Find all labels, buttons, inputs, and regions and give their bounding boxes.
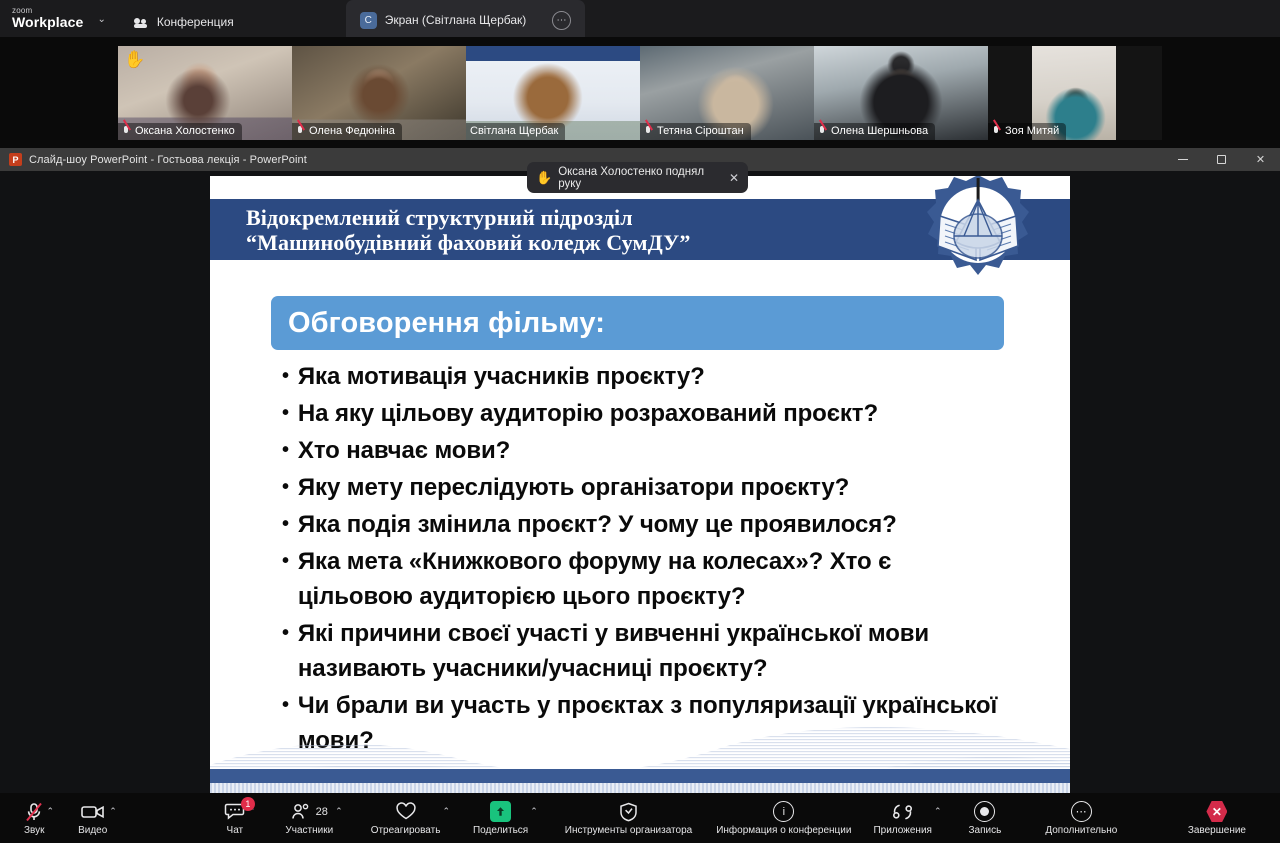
bullet-text: Яку мету переслідують організатори проєк… (298, 470, 1012, 505)
end-meeting-icon: ✕ (1206, 801, 1227, 823)
participants-chevron-up-icon[interactable]: ⌃ (333, 806, 345, 817)
slide-bullet-item: • Яка мета «Книжкового форуму на колесах… (282, 544, 1012, 614)
slide-org-title-line2: “Машинобудівний фаховий коледж СумДУ” (246, 230, 940, 255)
end-meeting-hexagon: ✕ (1206, 801, 1227, 822)
close-button[interactable]: ✕ (1241, 148, 1280, 171)
notification-text: Оксана Холостенко поднял руку (558, 166, 723, 190)
brand-chevron-down-icon[interactable]: ⌄ (93, 0, 119, 37)
share-screen-square (490, 801, 511, 822)
more-dots-icon: ⋯ (1071, 801, 1092, 823)
slide-bullet-list: • Яка мотивація учасників проєкту? • На … (282, 359, 1012, 760)
tab-conference-label: Конференция (157, 15, 234, 29)
react-chevron-up-icon[interactable]: ⌃ (440, 806, 452, 817)
bullet-text: Яка мотивація учасників проєкту? (298, 359, 1012, 394)
microphone-muted-icon (25, 801, 43, 823)
toolbar-label-chat: Чат (227, 825, 244, 836)
toolbar-label-participants: Участники (285, 825, 333, 836)
participant-tile[interactable]: Олена Федюніна (292, 46, 466, 140)
microphone-muted-icon (818, 125, 827, 137)
record-icon (974, 801, 995, 823)
info-circle: i (773, 801, 794, 822)
slide-org-title: Відокремлений структурний підрозділ “Маш… (246, 205, 940, 255)
raise-hand-notification[interactable]: ✋ Оксана Холостенко поднял руку ✕ (527, 162, 748, 193)
participants-count: 28 (316, 806, 328, 818)
microphone-muted-icon (644, 125, 653, 137)
slide-wave-band (210, 769, 1070, 783)
record-circle (974, 801, 995, 822)
participant-name-badge: Олена Федюніна (292, 123, 402, 140)
participant-name: Олена Шершньова (831, 125, 928, 137)
zoom-meeting-window: zoom Workplace ⌄ Конференция C Экран (Св… (0, 0, 1280, 843)
participant-tile[interactable]: Тетяна Сіроштан (640, 46, 814, 140)
toolbar-button-apps[interactable]: Приложения (873, 793, 932, 843)
microphone-muted-icon (122, 125, 131, 137)
participant-name: Тетяна Сіроштан (657, 125, 744, 137)
bullet-dot-icon: • (282, 507, 289, 542)
brand-workplace-text: Workplace (12, 15, 83, 30)
microphone-muted-icon (296, 125, 305, 137)
slide-bullet-item: • Яку мету переслідують організатори про… (282, 470, 1012, 505)
toolbar-label-apps: Приложения (873, 825, 932, 836)
powerpoint-window-title: Слайд-шоу PowerPoint - Гостьова лекція -… (29, 154, 307, 166)
more-circle: ⋯ (1071, 801, 1092, 822)
shared-screen-stage: Відокремлений структурний підрозділ “Маш… (0, 171, 1280, 793)
toolbar-label-react: Отреагировать (371, 825, 441, 836)
bullet-dot-icon: • (282, 470, 289, 505)
toolbar-label-record: Запись (969, 825, 1002, 836)
toolbar-button-participants[interactable]: 28 Участники (285, 793, 333, 843)
raised-hand-icon: ✋ (124, 51, 145, 68)
close-icon[interactable]: ✕ (729, 171, 739, 185)
video-chevron-up-icon[interactable]: ⌃ (107, 806, 119, 817)
participant-name-badge: Оксана Холостенко (118, 123, 242, 140)
bullet-dot-icon: • (282, 359, 289, 394)
participant-filmstrip: ✋ Оксана Холостенко Олена Федюніна Світл… (0, 37, 1280, 148)
audio-chevron-up-icon[interactable]: ⌃ (45, 806, 57, 817)
tab-more-options-icon[interactable]: ⋯ (552, 11, 571, 30)
slide-bullet-item: • На яку цільову аудиторію розрахований … (282, 396, 1012, 431)
bullet-dot-icon: • (282, 396, 289, 431)
toolbar-button-audio[interactable]: Звук (24, 793, 45, 843)
tab-screen-share[interactable]: C Экран (Світлана Щербак) ⋯ (346, 0, 586, 37)
participant-tile[interactable]: Зоя Митяй (988, 46, 1162, 140)
minimize-button[interactable] (1163, 148, 1202, 171)
powerpoint-icon: P (9, 153, 22, 166)
window-controls: ✕ (1163, 148, 1280, 171)
participants-icon: 28 (291, 801, 328, 823)
chat-bubble-icon: 1 (224, 801, 246, 823)
microphone-muted-icon (992, 125, 1001, 137)
toolbar-button-record[interactable]: Запись (969, 793, 1002, 843)
heart-icon (395, 801, 417, 823)
participant-tile[interactable]: ✋ Оксана Холостенко (118, 46, 292, 140)
toolbar-label-meeting-info: Информация о конференции (716, 825, 851, 836)
maximize-button[interactable] (1202, 148, 1241, 171)
college-logo-icon (924, 176, 1032, 284)
toolbar-button-more[interactable]: ⋯ Дополнительно (1045, 793, 1117, 843)
participant-name: Оксана Холостенко (135, 125, 235, 137)
meeting-toolbar: Звук ⌃ Видео ⌃ 1 Чат (0, 793, 1280, 843)
participant-name-badge: Світлана Щербак (466, 123, 565, 140)
share-chevron-up-icon[interactable]: ⌃ (528, 806, 540, 817)
app-header: zoom Workplace ⌄ Конференция C Экран (Св… (0, 0, 1280, 37)
zoom-logo: zoom Workplace (0, 0, 93, 37)
info-icon: i (773, 801, 794, 823)
bullet-text: Які причини своєї участі у вивченні укра… (298, 616, 1012, 686)
apps-chevron-up-icon[interactable]: ⌃ (932, 806, 944, 817)
tab-conference[interactable]: Конференция (120, 7, 248, 37)
tab-screen-share-label: Экран (Світлана Щербак) (385, 13, 527, 27)
toolbar-button-react[interactable]: Отреагировать (371, 793, 441, 843)
participant-name: Зоя Митяй (1005, 125, 1059, 137)
participant-name: Світлана Щербак (470, 125, 558, 137)
toolbar-button-chat[interactable]: 1 Чат (224, 793, 246, 843)
bullet-text: Яка мета «Книжкового форуму на колесах»?… (298, 544, 1012, 614)
slide-heading-box: Обговорення фільму: (271, 296, 1004, 350)
camera-icon (81, 801, 105, 823)
share-screen-icon (490, 801, 511, 823)
slide-org-title-line1: Відокремлений структурний підрозділ (246, 205, 940, 230)
bullet-text: Яка подія змінила проєкт? У чому це проя… (298, 507, 1012, 542)
apps-icon (891, 801, 914, 823)
bullet-dot-icon: • (282, 544, 289, 579)
toolbar-button-video[interactable]: Видео (78, 793, 107, 843)
slide-wave-decoration (210, 715, 1070, 801)
bullet-text: Хто навчає мови? (298, 433, 1012, 468)
chat-unread-badge: 1 (241, 797, 255, 811)
bullet-dot-icon: • (282, 433, 289, 468)
bullet-dot-icon: • (282, 616, 289, 651)
screen-share-avatar-icon: C (360, 12, 377, 29)
bullet-text: На яку цільову аудиторію розрахований пр… (298, 396, 1012, 431)
toolbar-button-end-meeting[interactable]: ✕ Завершение (1188, 793, 1246, 843)
presentation-slide: Відокремлений структурний підрозділ “Маш… (210, 176, 1070, 801)
participant-name-badge: Зоя Митяй (988, 123, 1066, 140)
people-icon (134, 16, 149, 28)
slide-bullet-item: • Які причини своєї участі у вивченні ук… (282, 616, 1012, 686)
toolbar-button-host-tools[interactable]: Инструменты организатора (565, 793, 692, 843)
shield-icon (619, 801, 638, 823)
toolbar-button-share[interactable]: Поделиться (473, 793, 528, 843)
slide-bullet-item: • Яка мотивація учасників проєкту? (282, 359, 1012, 394)
participant-tile[interactable]: Олена Шершньова (814, 46, 988, 140)
slide-bullet-item: • Хто навчає мови? (282, 433, 1012, 468)
toolbar-label-more: Дополнительно (1045, 825, 1117, 836)
toolbar-label-audio: Звук (24, 825, 45, 836)
slide-bullet-item: • Яка подія змінила проєкт? У чому це пр… (282, 507, 1012, 542)
slide-heading-text: Обговорення фільму: (271, 307, 605, 340)
toolbar-button-meeting-info[interactable]: i Информация о конференции (716, 793, 851, 843)
toolbar-label-share: Поделиться (473, 825, 528, 836)
participant-tile[interactable]: Світлана Щербак (466, 46, 640, 140)
toolbar-label-host-tools: Инструменты организатора (565, 825, 692, 836)
participant-name: Олена Федюніна (309, 125, 395, 137)
raised-hand-icon: ✋ (536, 170, 552, 186)
participant-name-badge: Тетяна Сіроштан (640, 123, 751, 140)
toolbar-label-video: Видео (78, 825, 107, 836)
toolbar-label-end-meeting: Завершение (1188, 825, 1246, 836)
participant-name-badge: Олена Шершньова (814, 123, 935, 140)
